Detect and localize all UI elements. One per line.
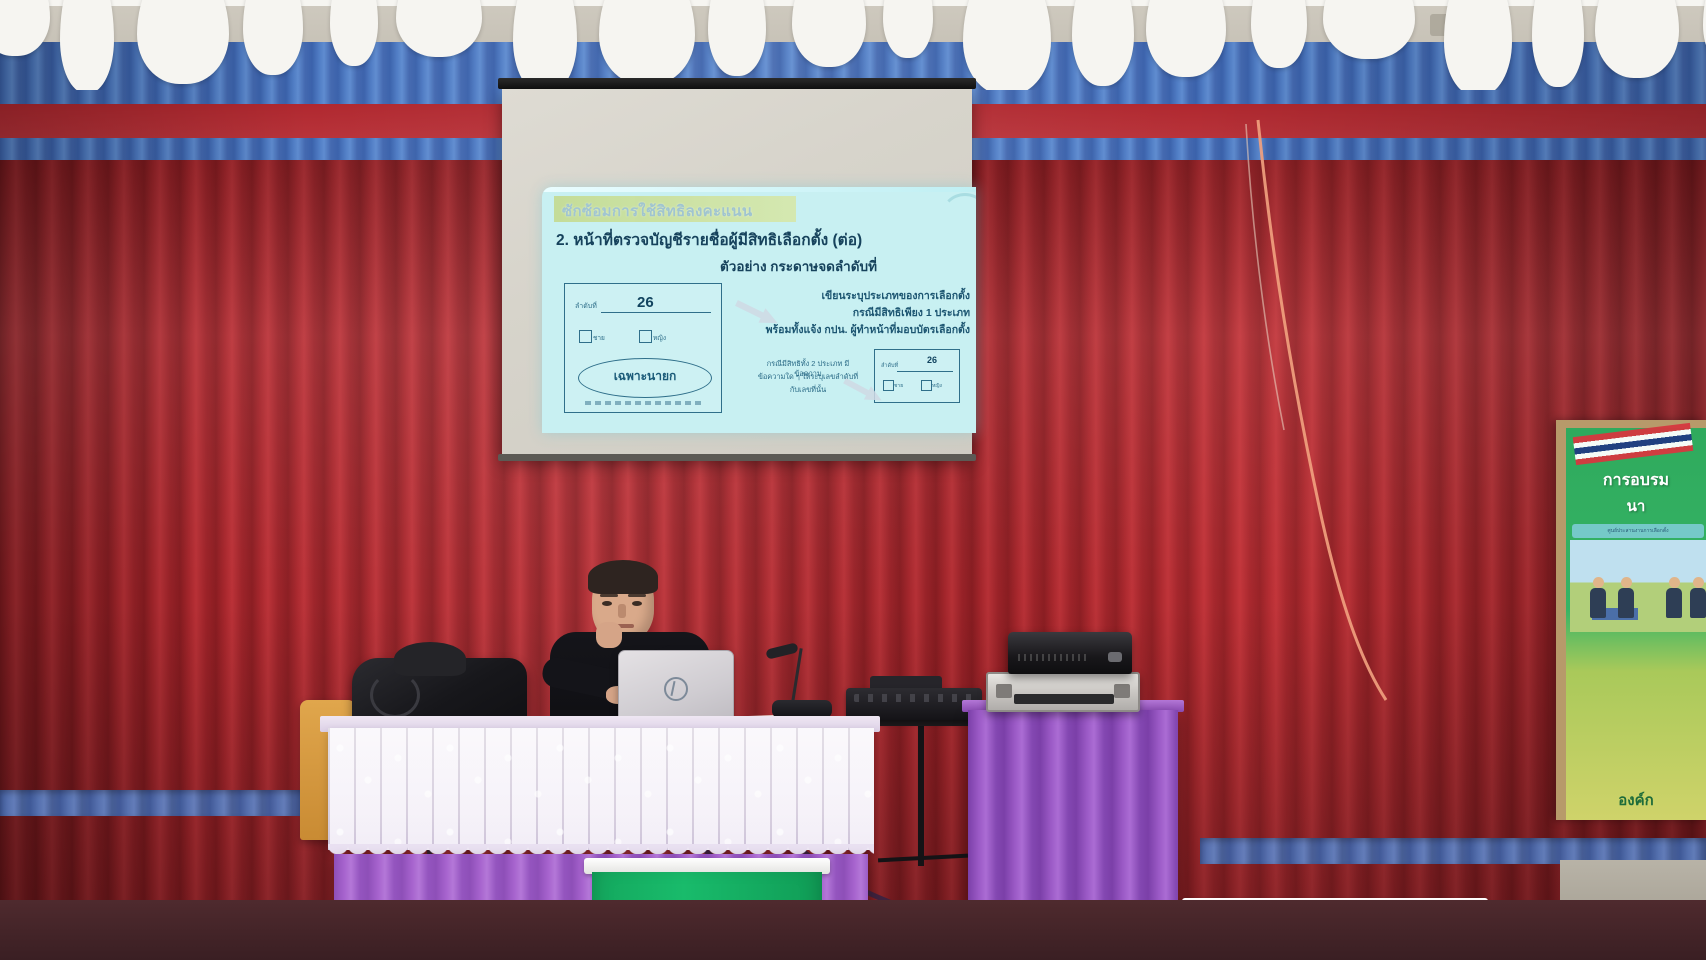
checkbox-male: [579, 330, 592, 343]
poster-illustration: [1570, 540, 1706, 632]
presenter-right-hand: [596, 622, 622, 648]
form2-checkbox-female-label: หญิง: [932, 382, 942, 390]
projected-slide: ซักซ้อมการใช้สิทธิลงคะแนน 2. หน้าที่ตรวจ…: [542, 187, 976, 433]
stand-pole: [918, 726, 924, 866]
form2-checkbox-male: [883, 380, 894, 391]
form2-order-number: 26: [927, 355, 937, 365]
floor: [0, 900, 1706, 960]
poster-figure-1: [1590, 588, 1606, 618]
poster-figure-4: [1690, 588, 1706, 618]
valance-scallop: [963, 0, 1051, 90]
poster-caption-text: ศูนย์ประสานงานการเลือกตั้ง: [1572, 527, 1704, 535]
bag-top-bulge: [394, 642, 466, 676]
projection-screen: ซักซ้อมการใช้สิทธิลงคะแนน 2. หน้าที่ตรวจ…: [498, 78, 976, 468]
screen-top-bar: [498, 78, 976, 89]
valance-scallop: [0, 0, 50, 56]
form-order-row: ลำดับที่ 26: [575, 296, 713, 314]
valance-scallop: [1146, 0, 1226, 77]
slide-form-example-card-2: ลำดับที่ 26 ชาย หญิง: [874, 349, 960, 403]
form-oval: เฉพาะนายก: [578, 358, 712, 398]
slide-corner-decoration: [940, 193, 976, 243]
flight-case: [986, 672, 1140, 712]
presenter-hair: [588, 560, 658, 594]
lace-table-skirt: [328, 728, 874, 850]
poster-figure-2: [1618, 588, 1634, 618]
slide-banner: ซักซ้อมการใช้สิทธิลงคะแนน: [554, 196, 796, 222]
valance-scallop: [1323, 0, 1415, 59]
valance-scallop: [1444, 0, 1512, 90]
presenter-eye-right: [632, 601, 642, 606]
form-order-number: 26: [637, 294, 654, 311]
poster-title: การอบรม: [1566, 468, 1706, 493]
valance-scallop: [60, 0, 114, 90]
screen-bottom-bar: [498, 454, 976, 461]
slide-form-example-card: ลำดับที่ 26 ชาย หญิง เฉพาะนายก: [564, 283, 722, 413]
form-order-underline: [601, 312, 711, 313]
projector: [1008, 632, 1132, 674]
valance-scallop: [883, 0, 933, 58]
valance-scallop: [599, 0, 695, 85]
bag-strap: [370, 672, 420, 718]
poster-footer: องค์ก: [1566, 788, 1706, 812]
projector-vent: [1018, 654, 1088, 661]
poster-subtitle: นา: [1566, 494, 1706, 518]
slide-note-line-1: เขียนระบุประเภทของการเลือกตั้ง: [821, 287, 970, 304]
form2-checkbox-male-label: ชาย: [894, 382, 903, 390]
valance-scallop: [1072, 0, 1134, 86]
form-scribble-line: [585, 401, 703, 405]
thai-flag-icon: [1573, 423, 1694, 465]
screen-surface: ซักซ้อมการใช้สิทธิลงคะแนน 2. หน้าที่ตรวจ…: [502, 89, 972, 457]
valance-scallop: [792, 0, 866, 67]
flight-case-latch-left: [996, 684, 1012, 698]
valance-scallop: [330, 0, 378, 66]
valance-scallop: [708, 0, 766, 76]
checkbox-male-label: ชาย: [593, 333, 605, 343]
valance-scallop: [243, 0, 303, 75]
form-oval-text: เฉพาะนายก: [579, 367, 711, 386]
presenter-nose: [618, 604, 626, 618]
slide-subheading: ตัวอย่าง กระดาษจดลำดับที่: [720, 255, 877, 277]
form-order-label: ลำดับที่: [575, 301, 597, 312]
slide-note-line-3: พร้อมทั้งแจ้ง กปน. ผู้ทำหน้าที่มอบบัตรเล…: [766, 321, 970, 338]
poster-frame: การอบรม นา ศูนย์ประสานงานการเลือกตั้ง อง…: [1556, 420, 1706, 820]
valance-scallop: [1251, 0, 1307, 68]
flight-case-strip: [1014, 694, 1114, 704]
valance-scallop: [137, 0, 229, 84]
poster-figure-3: [1666, 588, 1682, 618]
valance-scallop: [513, 0, 577, 90]
presenter-eye-left: [602, 601, 612, 606]
slide-heading: 2. หน้าที่ตรวจบัญชีรายชื่อผู้มีสิทธิเลือ…: [556, 227, 862, 252]
hp-logo-icon: [664, 677, 688, 701]
valance-scallop: [1595, 0, 1679, 78]
slide-note-small-3: กับเลขที่นั้น: [754, 385, 862, 395]
flight-case-latch-right: [1114, 684, 1130, 698]
valance-scallop: [396, 0, 482, 57]
training-poster: การอบรม นา ศูนย์ประสานงานการเลือกตั้ง อง…: [1566, 428, 1706, 820]
photo-scene: ซักซ้อมการใช้สิทธิลงคะแนน 2. หน้าที่ตรวจ…: [0, 0, 1706, 960]
presenter-brow-left: [600, 594, 618, 597]
checkbox-female: [639, 330, 652, 343]
poster-caption-band: ศูนย์ประสานงานการเลือกตั้ง: [1572, 524, 1704, 538]
projector-lens: [1108, 652, 1122, 662]
slide-top-glow: [542, 187, 976, 192]
form2-order-underline: [897, 371, 953, 372]
form2-checkbox-female: [921, 380, 932, 391]
presenter-brow-right: [628, 594, 646, 597]
slide-banner-text: ซักซ้อมการใช้สิทธิลงคะแนน: [562, 199, 752, 223]
mixer-knob-row: [854, 694, 974, 702]
slide-note-line-2: กรณีมีสิทธิเพียง 1 ประเภท: [853, 304, 970, 321]
scalloped-valance: [0, 0, 1706, 90]
valance-scallop: [1532, 0, 1584, 87]
checkbox-female-label: หญิง: [653, 333, 666, 343]
form2-order-label: ลำดับที่: [881, 362, 898, 370]
